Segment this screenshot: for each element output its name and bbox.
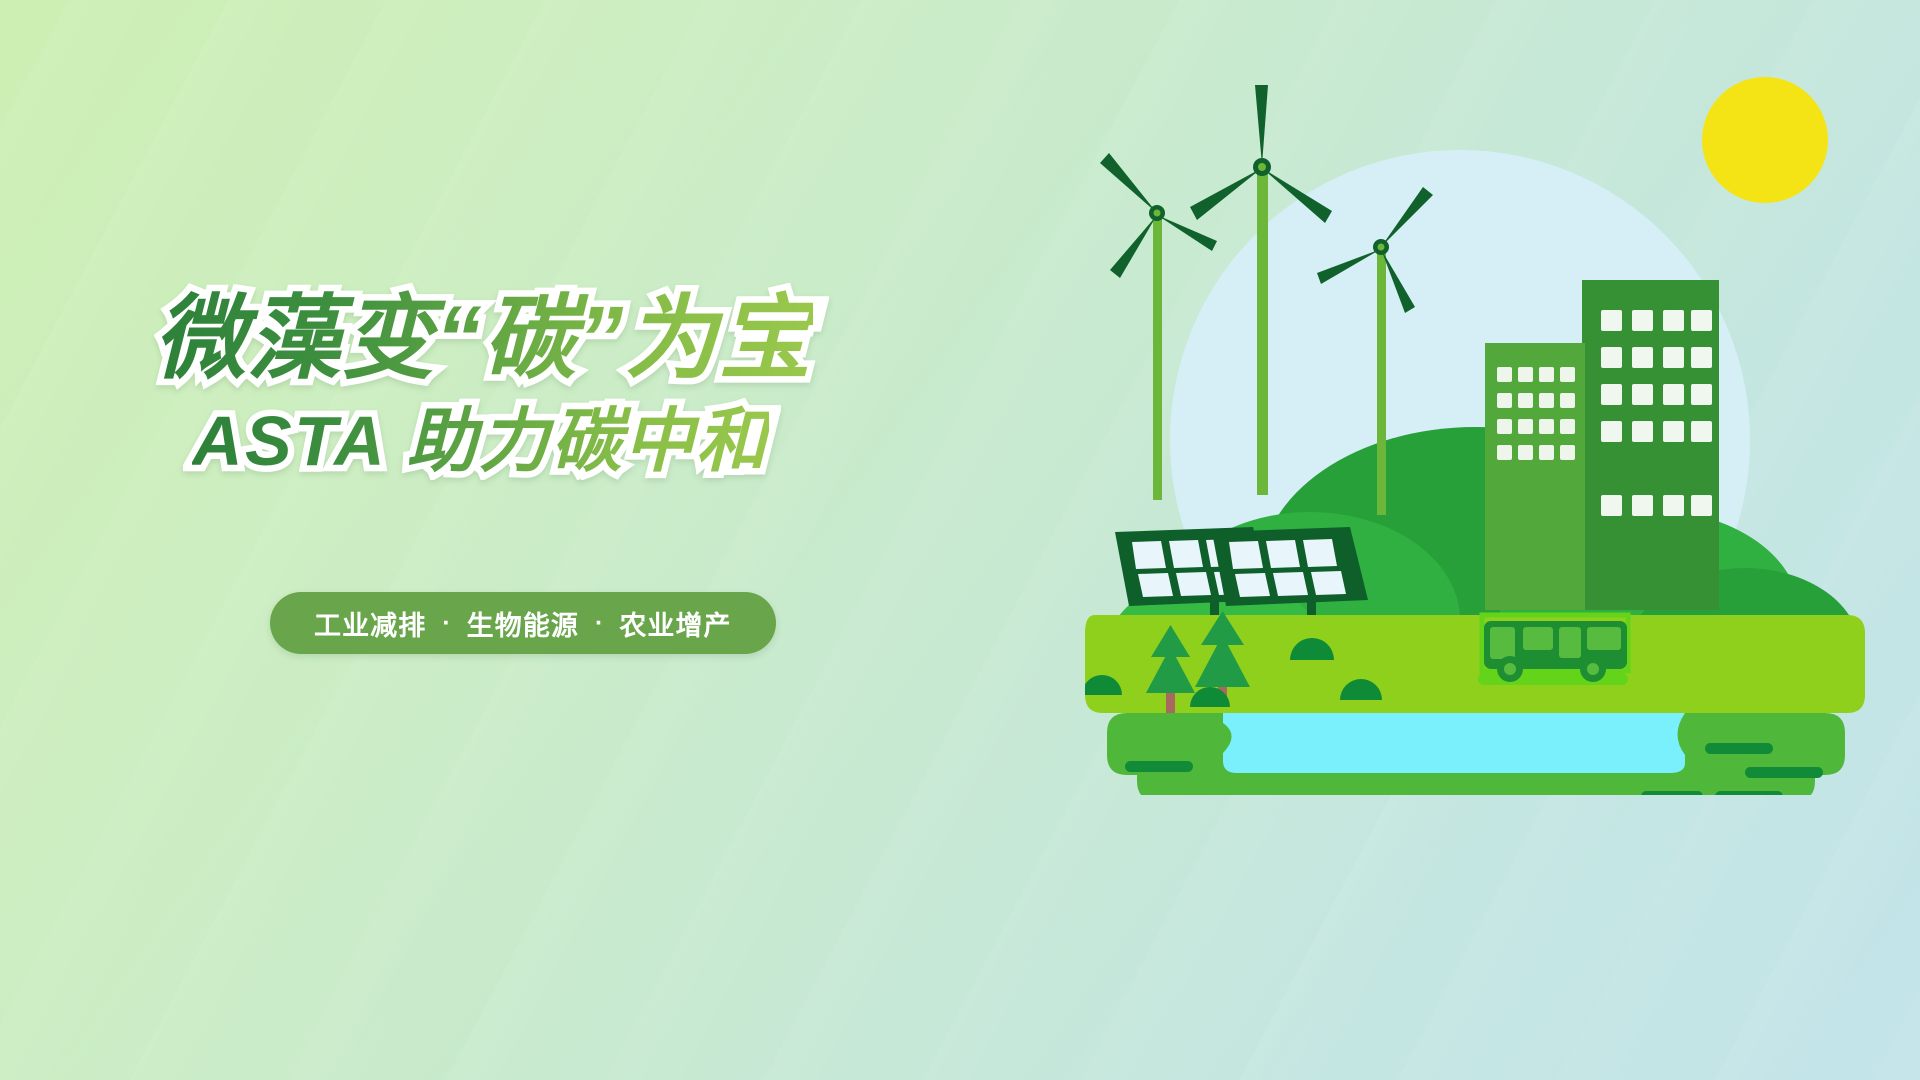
page-title-text: 微藻变“碳”为宝 [154,288,813,390]
tagline-item-2: 生物能源 [467,604,579,643]
water-body [1223,713,1685,773]
page-subtitle-text: ASTA 助力碳中和 [192,402,769,480]
tagline-item-3: 农业增产 [619,604,731,643]
tagline-separator-1: · [426,609,466,638]
bus-icon [1478,615,1628,685]
page-subtitle: ASTA 助力碳中和 ASTA 助力碳中和 [192,404,910,490]
eco-city-illustration [1085,55,1865,795]
tagline-badge: 工业减排 · 生物能源 · 农业增产 [270,592,776,654]
sun-icon [1702,77,1828,203]
tagline-item-1: 工业减排 [314,604,426,643]
tagline-separator-2: · [579,609,619,638]
waterfront-group [1107,713,1845,795]
banner-root: 微藻变“碳”为宝 微藻变“碳”为宝 ASTA 助力碳中和 ASTA 助力碳中和 … [0,0,1920,1080]
wind-turbines-group [1100,85,1433,515]
page-title: 微藻变“碳”为宝 微藻变“碳”为宝 [154,290,910,398]
building-short [1485,343,1585,610]
headline-block: 微藻变“碳”为宝 微藻变“碳”为宝 ASTA 助力碳中和 ASTA 助力碳中和 [150,290,910,490]
